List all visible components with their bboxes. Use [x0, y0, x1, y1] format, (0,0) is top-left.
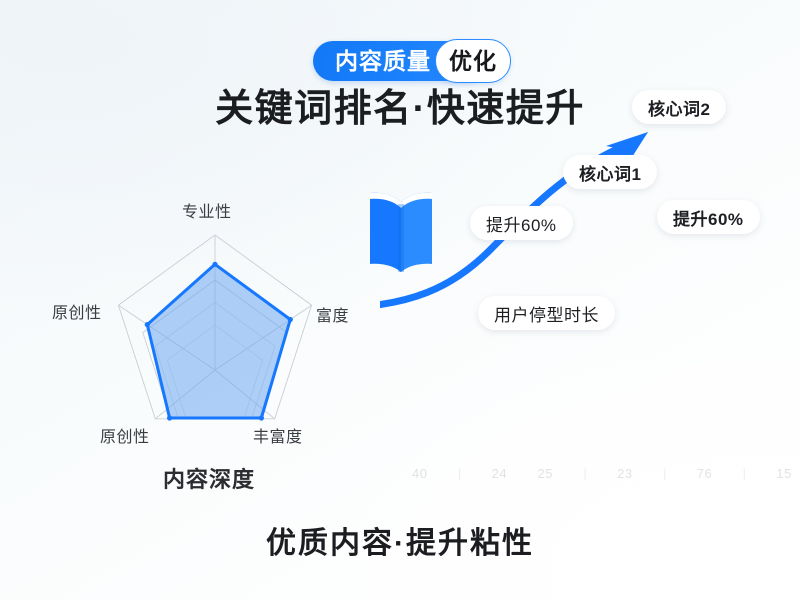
pill-keyword-2[interactable]: 核心词2 [632, 90, 726, 124]
content-quality-badge[interactable]: 内容质量 优化 [313, 41, 487, 81]
tick-item: 25 [538, 466, 553, 481]
tick-item: 24 [492, 466, 507, 481]
radar-axis-label-left: 原创性 [52, 299, 102, 323]
radar-series-area [147, 264, 290, 418]
radar-axis-label-bottom-left: 原创性 [100, 423, 150, 447]
radar-axis-label-right: 富度 [316, 302, 349, 326]
faint-axis-ticks: 40 | 24 25 | 23 | 76 | 15 [412, 466, 792, 481]
pill-keyword-1[interactable]: 核心词1 [563, 155, 657, 189]
radar-axis-label-top: 专业性 [182, 198, 232, 222]
poster-canvas: 内容质量 优化 关键词排名·快速提升 专业性 富度 [0, 0, 800, 600]
tick-item: 15 [776, 466, 791, 481]
badge-container: 内容质量 优化 [0, 41, 800, 81]
badge-optimize-chip[interactable]: 优化 [435, 39, 511, 83]
tick-item: | [663, 466, 666, 481]
pill-uplift-right[interactable]: 提升60% [657, 200, 760, 234]
badge-chip-label: 优化 [449, 50, 497, 73]
radar-axis-label-bottom-right: 丰富度 [253, 423, 303, 447]
tick-item: 40 [412, 466, 427, 481]
tick-item: | [743, 466, 746, 481]
open-book-icon [364, 186, 438, 278]
tick-item: | [458, 466, 461, 481]
tick-item: 76 [697, 466, 712, 481]
pill-uplift-left[interactable]: 提升60% [470, 206, 573, 240]
tick-item: 23 [617, 466, 632, 481]
tick-item: | [583, 466, 586, 481]
content-depth-label: 内容深度 [163, 462, 255, 494]
page-subtitle: 优质内容·提升粘性 [0, 518, 800, 562]
badge-main-label: 内容质量 [335, 50, 431, 73]
radar-chart [30, 225, 370, 455]
pill-dwell-time[interactable]: 用户停型时长 [478, 296, 615, 330]
